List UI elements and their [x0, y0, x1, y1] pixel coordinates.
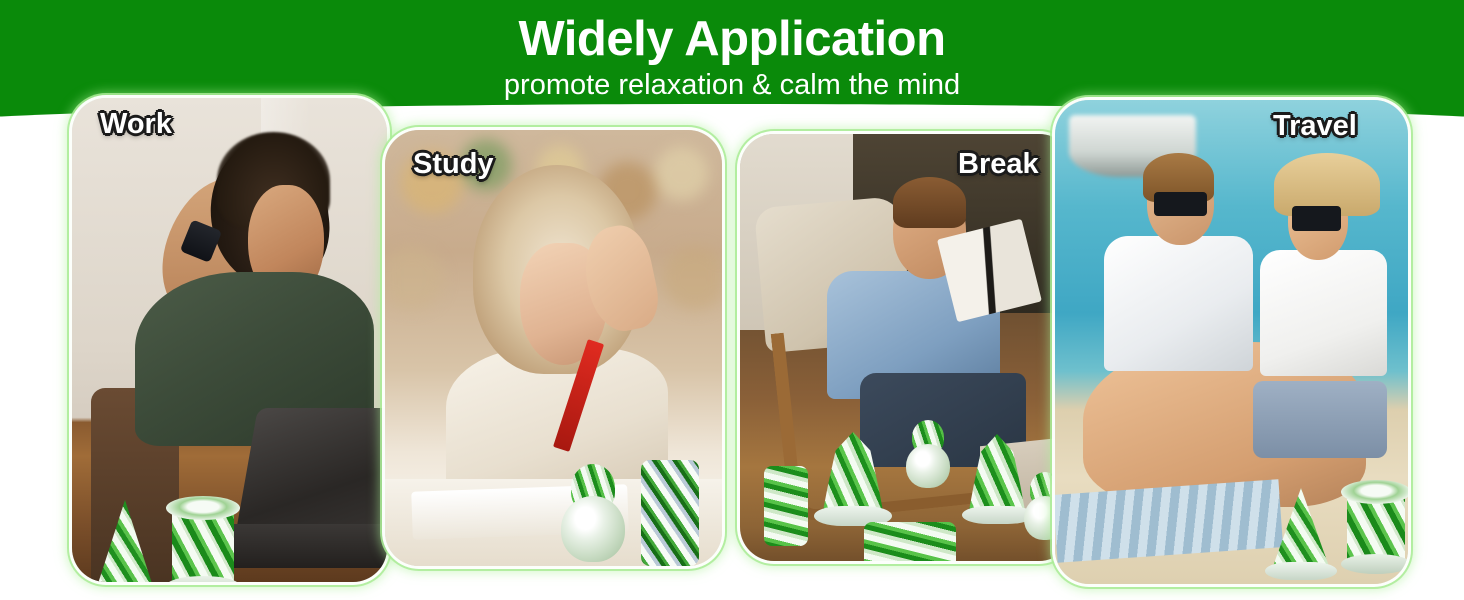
panel-study[interactable]: Study: [385, 130, 722, 566]
widely-application-banner: Widely Application promote relaxation & …: [0, 0, 1464, 600]
panel-travel-label: Travel: [1273, 110, 1357, 143]
product-horizontal-roller-diffuser: [864, 522, 956, 561]
panel-break[interactable]: Break: [740, 134, 1073, 561]
travel-woman-sunglasses: [1292, 206, 1341, 230]
travel-woman-top: [1260, 250, 1387, 376]
panel-study-label: Study: [413, 148, 494, 181]
panel-travel[interactable]: Travel: [1055, 100, 1408, 584]
travel-man-sunglasses: [1154, 192, 1207, 216]
product-cylinder-base-travel: [1341, 554, 1408, 574]
product-cone-base-travel: [1265, 562, 1337, 580]
panel-break-label: Break: [958, 148, 1039, 181]
travel-shorts: [1253, 381, 1387, 458]
product-cylinder-top: [166, 496, 240, 520]
product-gourd-diffuser: [561, 496, 625, 562]
panel-work[interactable]: Work: [72, 98, 387, 582]
travel-man-shirt: [1104, 236, 1252, 372]
product-striped-tube-diffuser: [641, 460, 699, 566]
panel-work-label: Work: [100, 108, 172, 141]
product-gourd-diffuser-center: [906, 444, 950, 488]
product-roller-diffuser-left: [764, 466, 808, 546]
product-cylinder-top-travel: [1341, 480, 1408, 504]
break-hair: [893, 177, 966, 228]
